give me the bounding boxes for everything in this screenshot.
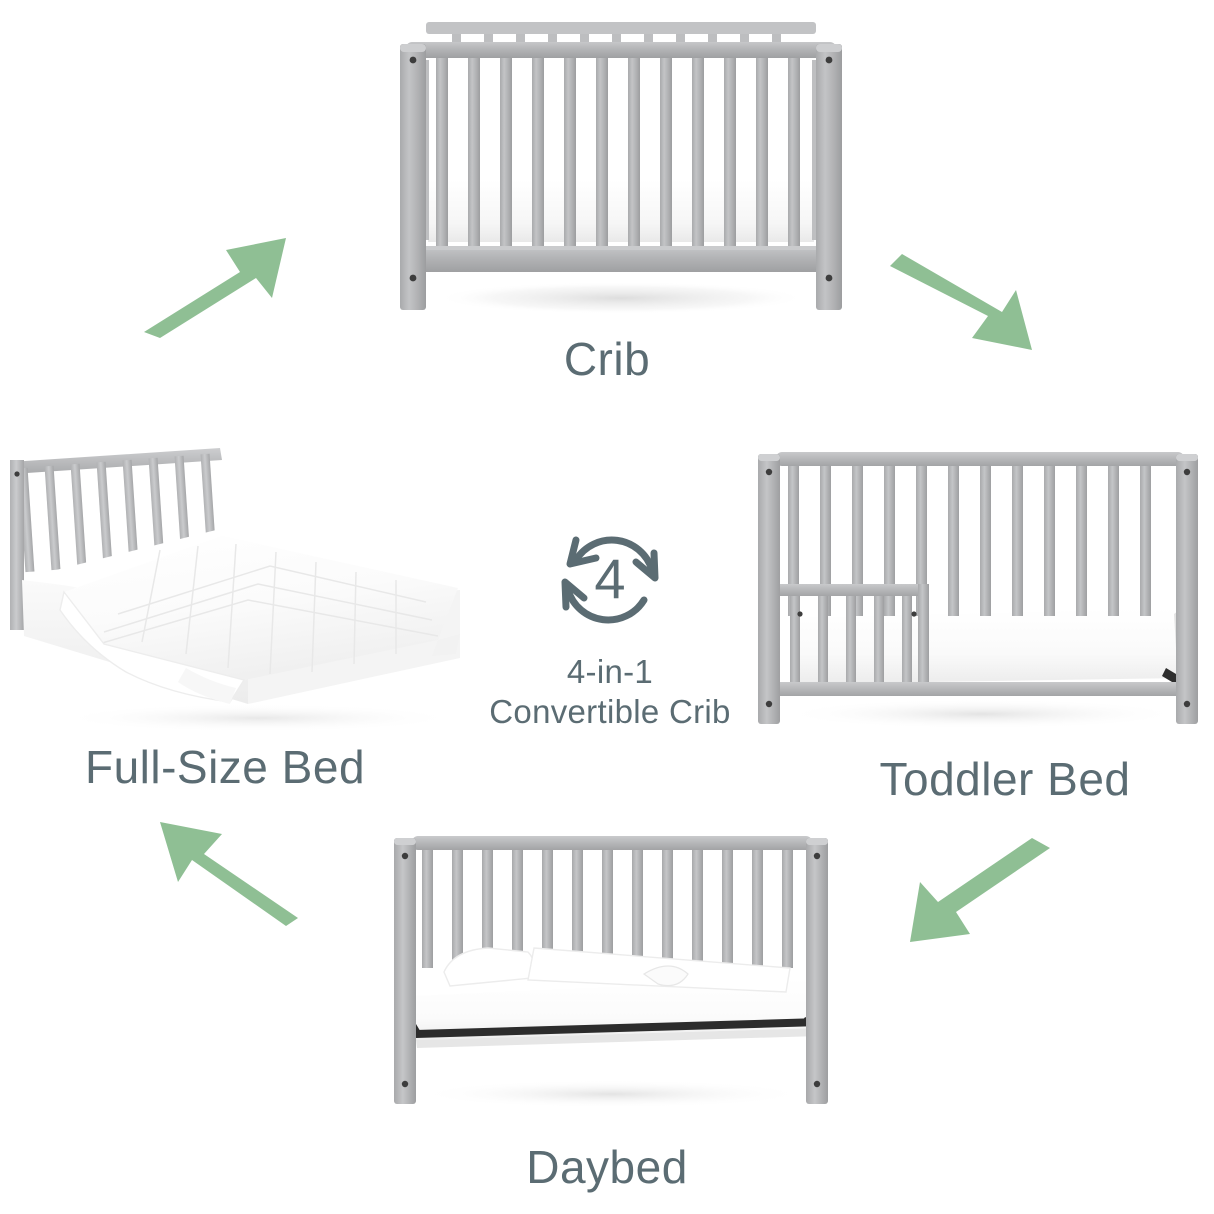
label-crib: Crib <box>0 332 1214 386</box>
label-toddler-bed: Toddler Bed <box>800 752 1210 806</box>
badge-line-2: Convertible Crib <box>455 692 765 732</box>
cycle-count: 4 <box>594 547 625 610</box>
infographic-canvas: 4 4-in-1 Convertible Crib Crib Full-Size… <box>0 0 1214 1214</box>
label-daybed: Daybed <box>0 1140 1214 1194</box>
cycle-arrows-icon: 4 <box>548 518 672 642</box>
center-badge: 4 4-in-1 Convertible Crib <box>455 518 765 732</box>
crib-illustration <box>392 8 850 338</box>
arrow-daybed-to-full <box>148 808 298 930</box>
label-full-size-bed: Full-Size Bed <box>20 740 430 794</box>
badge-line-1: 4-in-1 <box>455 652 765 692</box>
toddler-bed-illustration <box>742 432 1212 752</box>
arrow-toddler-to-daybed <box>908 838 1058 942</box>
full-size-bed-illustration <box>8 432 478 742</box>
daybed-illustration <box>382 822 842 1132</box>
arrow-full-to-crib <box>140 228 290 340</box>
